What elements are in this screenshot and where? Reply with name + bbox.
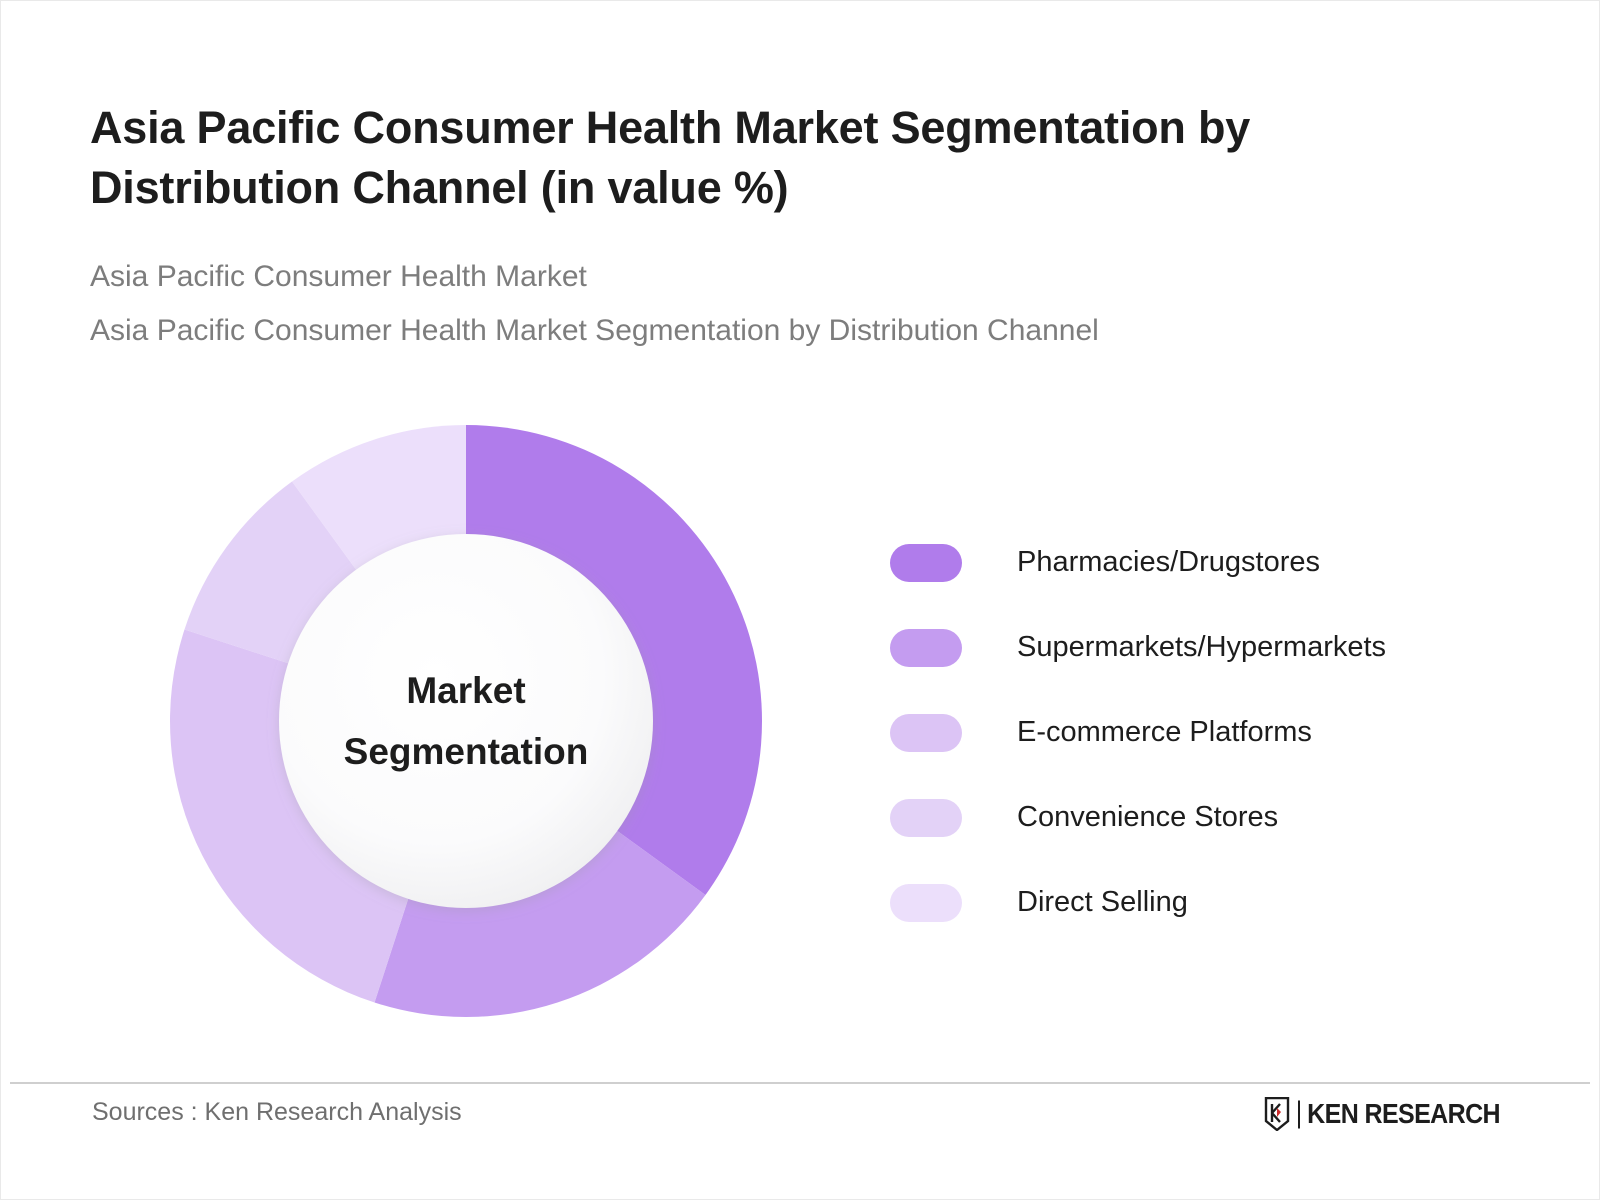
brand-name: KEN RESEARCH	[1298, 1100, 1500, 1128]
ken-research-mark-icon	[1264, 1097, 1290, 1131]
legend-item-label: E-commerce Platforms	[1017, 716, 1312, 749]
legend-item[interactable]: Supermarkets/Hypermarkets	[890, 605, 1510, 690]
legend-item-label: Supermarkets/Hypermarkets	[1017, 631, 1386, 664]
footer-sources: Sources : Ken Research Analysis	[92, 1098, 462, 1127]
legend-swatch-icon	[890, 884, 962, 922]
legend-item[interactable]: Convenience Stores	[890, 775, 1510, 860]
donut-hole	[279, 534, 653, 908]
page-subtitle: Asia Pacific Consumer Health Market Asia…	[90, 250, 1230, 358]
legend-item[interactable]: Direct Selling	[890, 860, 1510, 945]
legend-swatch-icon	[890, 544, 962, 582]
legend-swatch-icon	[890, 629, 962, 667]
page-title: Asia Pacific Consumer Health Market Segm…	[90, 98, 1420, 218]
legend-swatch-icon	[890, 714, 962, 752]
legend-item-label: Convenience Stores	[1017, 801, 1278, 834]
legend-item-label: Direct Selling	[1017, 886, 1188, 919]
donut-svg: Pharmacies/Drugstores 35%Supermarkets/Hy…	[170, 425, 762, 1017]
brand-logo: KEN RESEARCH	[1264, 1096, 1500, 1132]
legend-item-label: Pharmacies/Drugstores	[1017, 546, 1320, 579]
slide-canvas: Asia Pacific Consumer Health Market Segm…	[0, 0, 1600, 1200]
chart-legend: Pharmacies/DrugstoresSupermarkets/Hyperm…	[890, 520, 1510, 945]
subtitle-line-1: Asia Pacific Consumer Health Market	[90, 250, 1230, 304]
footer-divider	[10, 1082, 1590, 1084]
legend-swatch-icon	[890, 799, 962, 837]
subtitle-line-2: Asia Pacific Consumer Health Market Segm…	[90, 304, 1230, 358]
legend-item[interactable]: E-commerce Platforms	[890, 690, 1510, 775]
legend-item[interactable]: Pharmacies/Drugstores	[890, 520, 1510, 605]
donut-chart: Pharmacies/Drugstores 35%Supermarkets/Hy…	[170, 425, 762, 1017]
